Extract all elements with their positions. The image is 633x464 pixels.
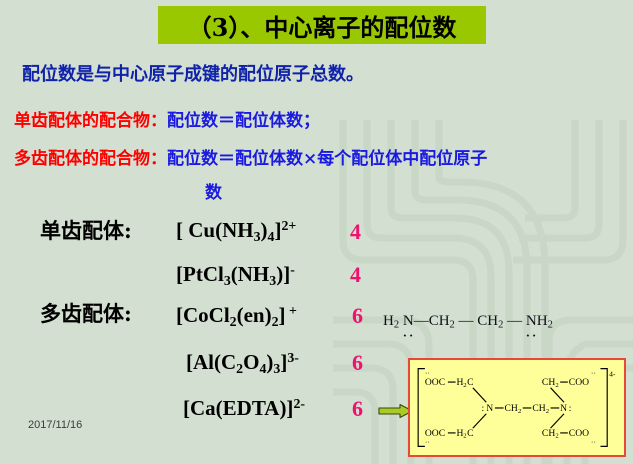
edta-charge: 4- (609, 369, 616, 378)
edta-structure-box: 4- OOC H 2 C ·· OOC H 2 C ·· : N CH 2 CH… (408, 358, 626, 457)
formula-ca-edta: [Ca(EDTA)]2- (183, 396, 305, 421)
edta-lone-pair-bottom-right: ·· (591, 437, 596, 446)
edta-right-nitrogen: N (560, 403, 567, 414)
rule-value-polydentate: 配位数＝配位体数×每个配位体中配位原子 (167, 149, 487, 169)
coordination-number-1: 4 (350, 219, 361, 245)
slide-title-bar: （3）、中心离子的配位数 (158, 6, 486, 44)
svg-text:2: 2 (555, 382, 558, 389)
rule-row-polydentate: 多齿配体的配合物：配位数＝配位体数×每个配位体中配位原子 (14, 144, 487, 169)
svg-text:2: 2 (463, 433, 466, 440)
edta-bottom-right-ch2: CH (542, 428, 555, 439)
svg-text:C: C (467, 428, 473, 439)
svg-text:2: 2 (463, 382, 466, 389)
svg-text:C: C (467, 377, 473, 388)
rule-value-continuation: 数 (205, 178, 222, 203)
edta-top-left-label: OOC (425, 377, 445, 388)
edta-center-ch2-right: CH (532, 403, 545, 414)
svg-text:2: 2 (546, 408, 549, 415)
edta-lone-pair-bottom-left: ·· (425, 437, 430, 446)
edta-center-ch2-left: CH (505, 403, 518, 414)
coordination-number-3: 6 (352, 303, 363, 329)
formula-cocl2-en2: [CoCl2(en)2] + (176, 303, 297, 330)
formula-cu-nh3-4: [ Cu(NH3)4]2+ (176, 218, 296, 245)
edta-left-nitrogen: N (486, 403, 493, 414)
group-label-polydentate: 多齿配体: (40, 298, 132, 328)
formula-al-c2o4-3: [Al(C2O4)3]3- (186, 350, 299, 377)
edta-structure-diagram: 4- OOC H 2 C ·· OOC H 2 C ·· : N CH 2 CH… (410, 360, 624, 455)
edta-left-lone-pair: : (481, 403, 484, 414)
rule-row-monodentate: 单齿配体的配合物：配位数＝配位体数； (14, 106, 320, 131)
coordination-number-5: 6 (352, 396, 363, 422)
edta-bottom-right-label: COO (569, 428, 589, 439)
edta-top-right-ch2: CH (542, 377, 555, 388)
edta-lone-pair-top-left: ·· (425, 368, 430, 377)
ethylenediamine-structure: H2 N—CH2 — CH2 — NH2 (383, 313, 553, 331)
coordination-number-2: 4 (350, 262, 361, 288)
page-title: （3）、中心离子的配位数 (188, 8, 457, 43)
group-label-monodentate: 单齿配体: (40, 215, 132, 245)
date-stamp: 2017/11/16 (28, 419, 82, 431)
svg-text:2: 2 (555, 433, 558, 440)
rule-value-monodentate: 配位数＝配位体数； (167, 111, 320, 131)
edta-top-right-label: COO (569, 377, 589, 388)
edta-lone-pair-top-right: ·· (591, 368, 596, 377)
coordination-number-4: 6 (352, 350, 363, 376)
definition-text: 配位数是与中心原子成键的配位原子总数。 (22, 60, 364, 86)
rule-label-polydentate: 多齿配体的配合物： (14, 149, 167, 169)
formula-ptcl3-nh3: [PtCl3(NH3)]- (176, 262, 295, 289)
rule-label-monodentate: 单齿配体的配合物： (14, 111, 167, 131)
svg-text:2: 2 (518, 408, 521, 415)
edta-right-lone-pair: : (569, 403, 572, 414)
